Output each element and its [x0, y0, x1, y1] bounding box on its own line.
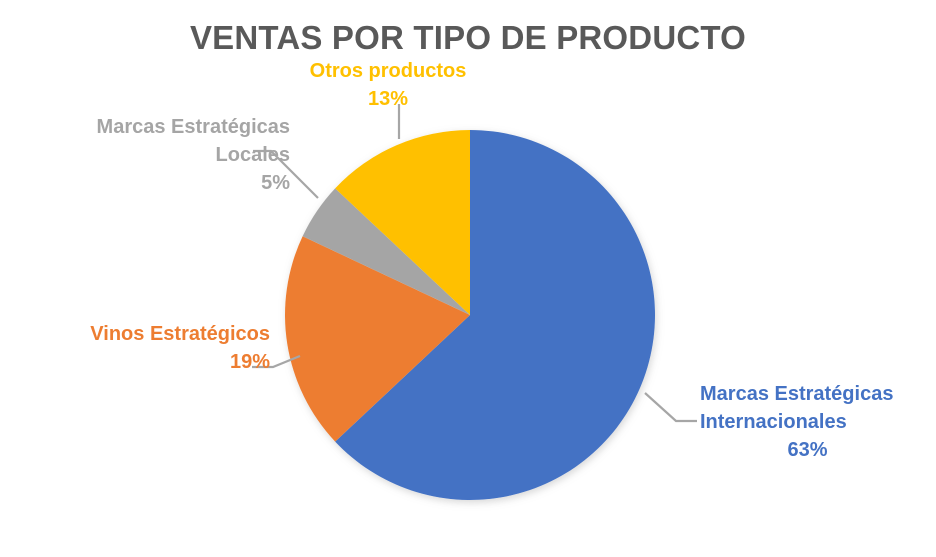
data-label-marcas-estrategicas-internacionales: Marcas Estratégicas Internacionales 63% — [700, 380, 935, 464]
data-label-marcas-estrategicas-locales-name-line2: Locales — [25, 141, 290, 169]
data-label-marcas-estrategicas-internacionales-percent: 63% — [700, 436, 915, 464]
data-label-vinos-estrategicos: Vinos Estratégicos 19% — [20, 320, 270, 376]
data-label-otros-productos-name: Otros productos — [283, 57, 493, 85]
data-label-marcas-estrategicas-locales-name-line1: Marcas Estratégicas — [25, 113, 290, 141]
data-label-marcas-estrategicas-internacionales-name-line1: Marcas Estratégicas — [700, 380, 935, 408]
data-label-marcas-estrategicas-internacionales-name-line2: Internacionales — [700, 408, 935, 436]
data-label-vinos-estrategicos-percent: 19% — [20, 348, 270, 376]
data-label-otros-productos-percent: 13% — [283, 85, 493, 113]
pie-chart-container: VENTAS POR TIPO DE PRODUCTO Otros produc… — [0, 0, 936, 557]
data-label-marcas-estrategicas-locales: Marcas Estratégicas Locales 5% — [25, 113, 290, 197]
leader-line-marcas-estrategicas-internacionales — [645, 393, 697, 421]
data-label-vinos-estrategicos-name: Vinos Estratégicos — [20, 320, 270, 348]
data-label-otros-productos: Otros productos 13% — [283, 57, 493, 113]
data-label-marcas-estrategicas-locales-percent: 5% — [25, 169, 290, 197]
